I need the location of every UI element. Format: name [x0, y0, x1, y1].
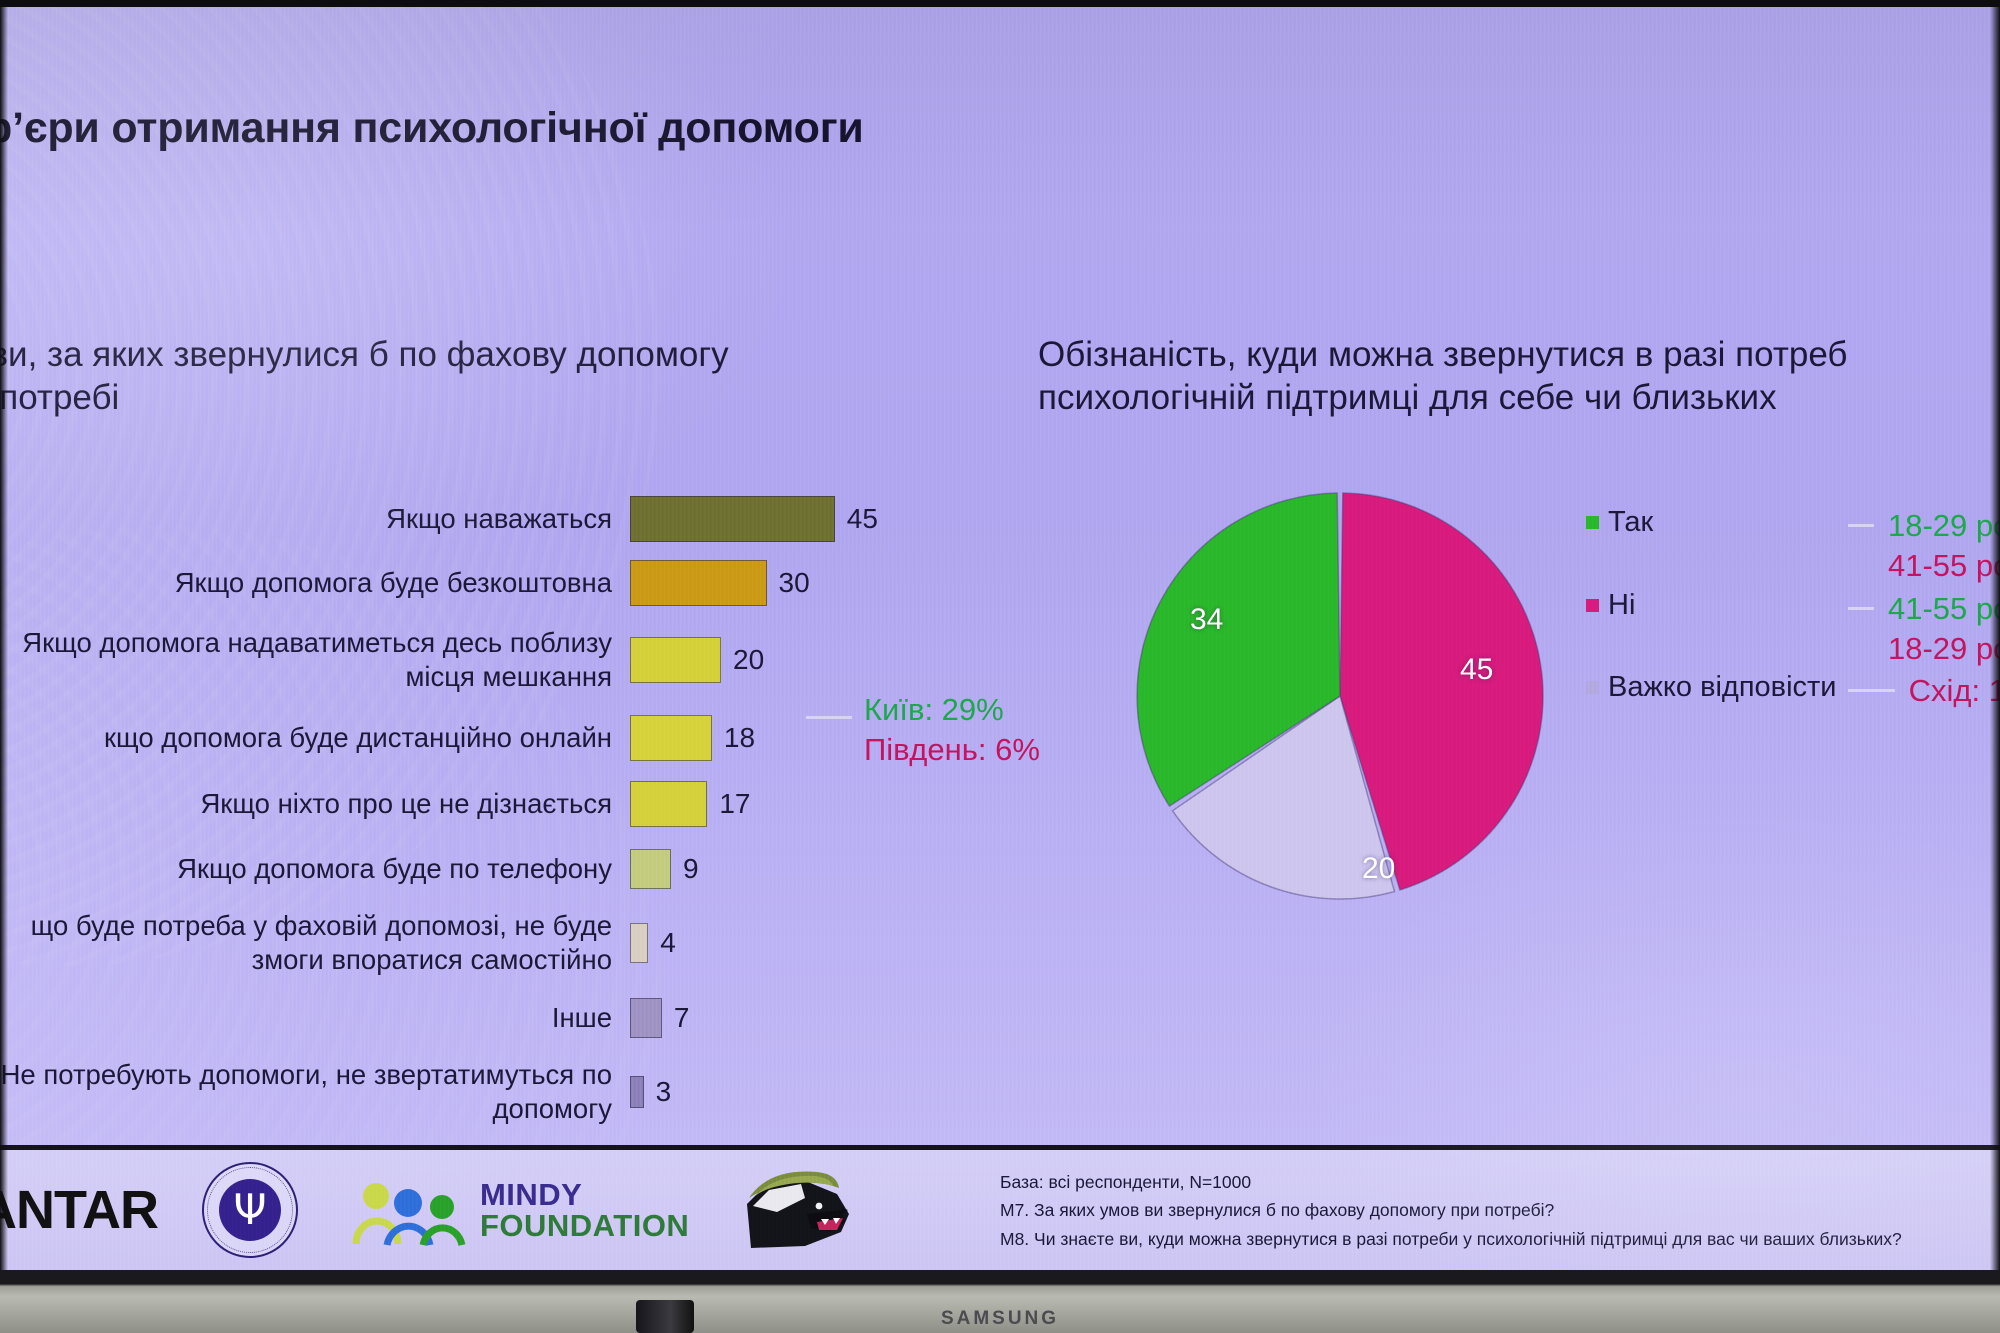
source-q-m7: M7. За яких умов ви звернулися б по фахо…: [1000, 1196, 1990, 1224]
bar-and-value: 45: [630, 496, 878, 542]
bar-and-value: 30: [630, 560, 810, 606]
right-chart-heading: Обізнаність, куди можна звернутися в раз…: [1038, 334, 2000, 419]
bar-and-value: 4: [630, 923, 676, 963]
bar-row: Якщо ніхто про це не дізнається17: [0, 781, 1010, 827]
bar-label: Якщо допомога буде безкоштовна: [0, 566, 630, 600]
callout-line-kyiv: Київ: 29%: [864, 690, 1040, 730]
bar-value: 17: [719, 788, 750, 820]
monitor-screen: р’єри отримання психологічної допомоги о…: [0, 6, 2000, 1270]
bar-callout: Київ: 29% Південь: 6%: [806, 690, 1040, 769]
legend-key: Важко відповісти: [1586, 671, 1834, 704]
legend-values: 41-55 років: 51%18-29 років: 38%: [1888, 589, 2000, 670]
pie-value-hard-to-say: 20: [1362, 852, 1395, 886]
ispp-seal-logo: Ψ: [202, 1162, 298, 1258]
bar-label: Якщо допомога надаватиметься десь поблиз…: [0, 626, 630, 693]
legend-label: Так: [1608, 506, 1653, 539]
source-note: База: всі респонденти, N=1000 M7. За яки…: [1000, 1168, 1990, 1253]
right-chart-heading-line2: психологічній підтримці для себе чи близ…: [1038, 377, 2000, 420]
mindy-line2: FOUNDATION: [480, 1210, 689, 1241]
legend-value-line: 41-55 років: 51%: [1888, 589, 2000, 629]
bar-label: Якщо ніхто про це не дізнається: [0, 787, 630, 821]
legend-leader-line: [1848, 689, 1895, 692]
bar-label: Якщо наважаться: [0, 502, 630, 536]
bar-row: Якщо допомога буде безкоштовна30: [0, 560, 1010, 606]
bar-value: 3: [656, 1076, 672, 1108]
photo-of-monitor: р’єри отримання психологічної допомоги о…: [0, 0, 2000, 1333]
kantar-logo: ANTAR: [0, 1179, 158, 1241]
mindy-foundation-logo: MINDY FOUNDATION: [350, 1174, 689, 1246]
left-chart-heading-line1: ови, за яких звернулися б по фахову допо…: [0, 334, 990, 377]
monitor-stand: [636, 1300, 694, 1333]
source-base: База: всі респонденти, N=1000: [1000, 1168, 1990, 1196]
bar-row: Якщо допомога буде по телефону9: [0, 849, 1010, 889]
bar-and-value: 20: [630, 637, 764, 683]
legend-value-line: 41-55 років: 24%: [1888, 546, 2000, 586]
pie-chart-svg: [1130, 486, 1550, 906]
legend-key: Ні: [1586, 589, 1834, 622]
bar-value: 30: [779, 567, 810, 599]
bar: [630, 849, 671, 889]
bar-row: Якщо допомога надаватиметься десь поблиз…: [0, 626, 1010, 693]
legend-item[interactable]: Важко відповістиСхід: 1: [1586, 671, 2000, 711]
left-chart-heading-line2: и потребі: [0, 377, 990, 420]
legend-value-line: Схід: 1: [1909, 671, 2000, 711]
bar: [630, 1076, 644, 1108]
samsung-brand-label: SAMSUNG: [941, 1308, 1059, 1330]
bar: [630, 637, 721, 683]
mindy-line1: MINDY: [480, 1179, 689, 1210]
slide-title: р’єри отримання психологічної допомоги: [0, 104, 1086, 153]
presentation-slide: р’єри отримання психологічної допомоги о…: [0, 6, 2000, 1270]
footer-logos: ANTAR Ψ MINDY F: [0, 1162, 873, 1258]
bar-value: 4: [660, 927, 676, 959]
bar: [630, 923, 648, 963]
bar: [630, 560, 767, 606]
legend-leader-line: [1848, 524, 1874, 527]
legend-value-line: 18-29 років: 38%: [1888, 629, 2000, 669]
bar-label: Не потребують допомоги, не звертатимутьс…: [0, 1058, 630, 1125]
seal-ring: [207, 1167, 293, 1253]
legend-value-line: 18-29 років: 44%: [1888, 506, 2000, 546]
bar-value: 45: [847, 503, 878, 535]
bar-value: 9: [683, 853, 699, 885]
bar-label: Якщо допомога буде по телефону: [0, 852, 630, 886]
screen-right-edge-shadow: [1990, 6, 2000, 1270]
bar-chart: Якщо наважаться45Якщо допомога буде безк…: [0, 496, 1010, 1125]
bar-value: 20: [733, 644, 764, 676]
legend-leader-line: [1848, 607, 1874, 610]
bar: [630, 781, 707, 827]
legend-item[interactable]: Ні41-55 років: 51%18-29 років: 38%: [1586, 589, 2000, 670]
bar-value: 7: [674, 1002, 690, 1034]
bar-label: кщо допомога буде дистанційно онлайн: [0, 721, 630, 755]
callout-line-south: Південь: 6%: [864, 730, 1040, 770]
callout-leader-line: [806, 716, 852, 719]
legend-values: Схід: 1: [1909, 671, 2000, 711]
legend-item[interactable]: Так18-29 років: 44%41-55 років: 24%: [1586, 506, 2000, 587]
bar-row: Якщо наважаться45: [0, 496, 1010, 542]
bar-and-value: 18: [630, 715, 755, 761]
legend-key: Так: [1586, 506, 1834, 539]
legend-label: Ні: [1608, 589, 1635, 622]
mindy-people-icon: [350, 1174, 468, 1246]
legend-swatch-icon: [1586, 516, 1599, 529]
bar: [630, 998, 662, 1038]
bar-value: 18: [724, 722, 755, 754]
monitor-bezel-top: [0, 0, 2000, 7]
callout-text: Київ: 29% Південь: 6%: [864, 690, 1040, 769]
pie-legend: Так18-29 років: 44%41-55 років: 24%Ні41-…: [1586, 506, 2000, 713]
panther-emblem-icon: [733, 1162, 873, 1258]
bar-and-value: 9: [630, 849, 699, 889]
legend-swatch-icon: [1586, 681, 1599, 694]
bar-label: Інше: [0, 1001, 630, 1035]
bar-and-value: 7: [630, 998, 689, 1038]
bar: [630, 715, 712, 761]
mindy-wordmark: MINDY FOUNDATION: [480, 1179, 689, 1241]
left-chart-heading: ови, за яких звернулися б по фахову допо…: [0, 334, 990, 419]
bar-and-value: 17: [630, 781, 751, 827]
screen-left-edge-shadow: [0, 6, 8, 1270]
slide-footer: ANTAR Ψ MINDY F: [0, 1145, 2000, 1270]
bar-label: що буде потреба у фаховій допомозі, не б…: [0, 909, 630, 976]
legend-label: Важко відповісти: [1608, 671, 1837, 704]
source-q-m8: M8. Чи знаєте ви, куди можна звернутися …: [1000, 1225, 1990, 1253]
bar-row: Не потребують допомоги, не звертатимутьс…: [0, 1058, 1010, 1125]
bar-row: що буде потреба у фаховій допомозі, не б…: [0, 909, 1010, 976]
pie-value-no: 45: [1460, 653, 1493, 687]
right-chart-heading-line1: Обізнаність, куди можна звернутися в раз…: [1038, 334, 2000, 377]
pie-chart: 34 45 20: [1130, 486, 1550, 906]
legend-values: 18-29 років: 44%41-55 років: 24%: [1888, 506, 2000, 587]
bar-and-value: 3: [630, 1076, 671, 1108]
pie-value-yes: 34: [1190, 603, 1223, 637]
bar-row: Інше7: [0, 998, 1010, 1038]
legend-swatch-icon: [1586, 599, 1599, 612]
bar: [630, 496, 835, 542]
